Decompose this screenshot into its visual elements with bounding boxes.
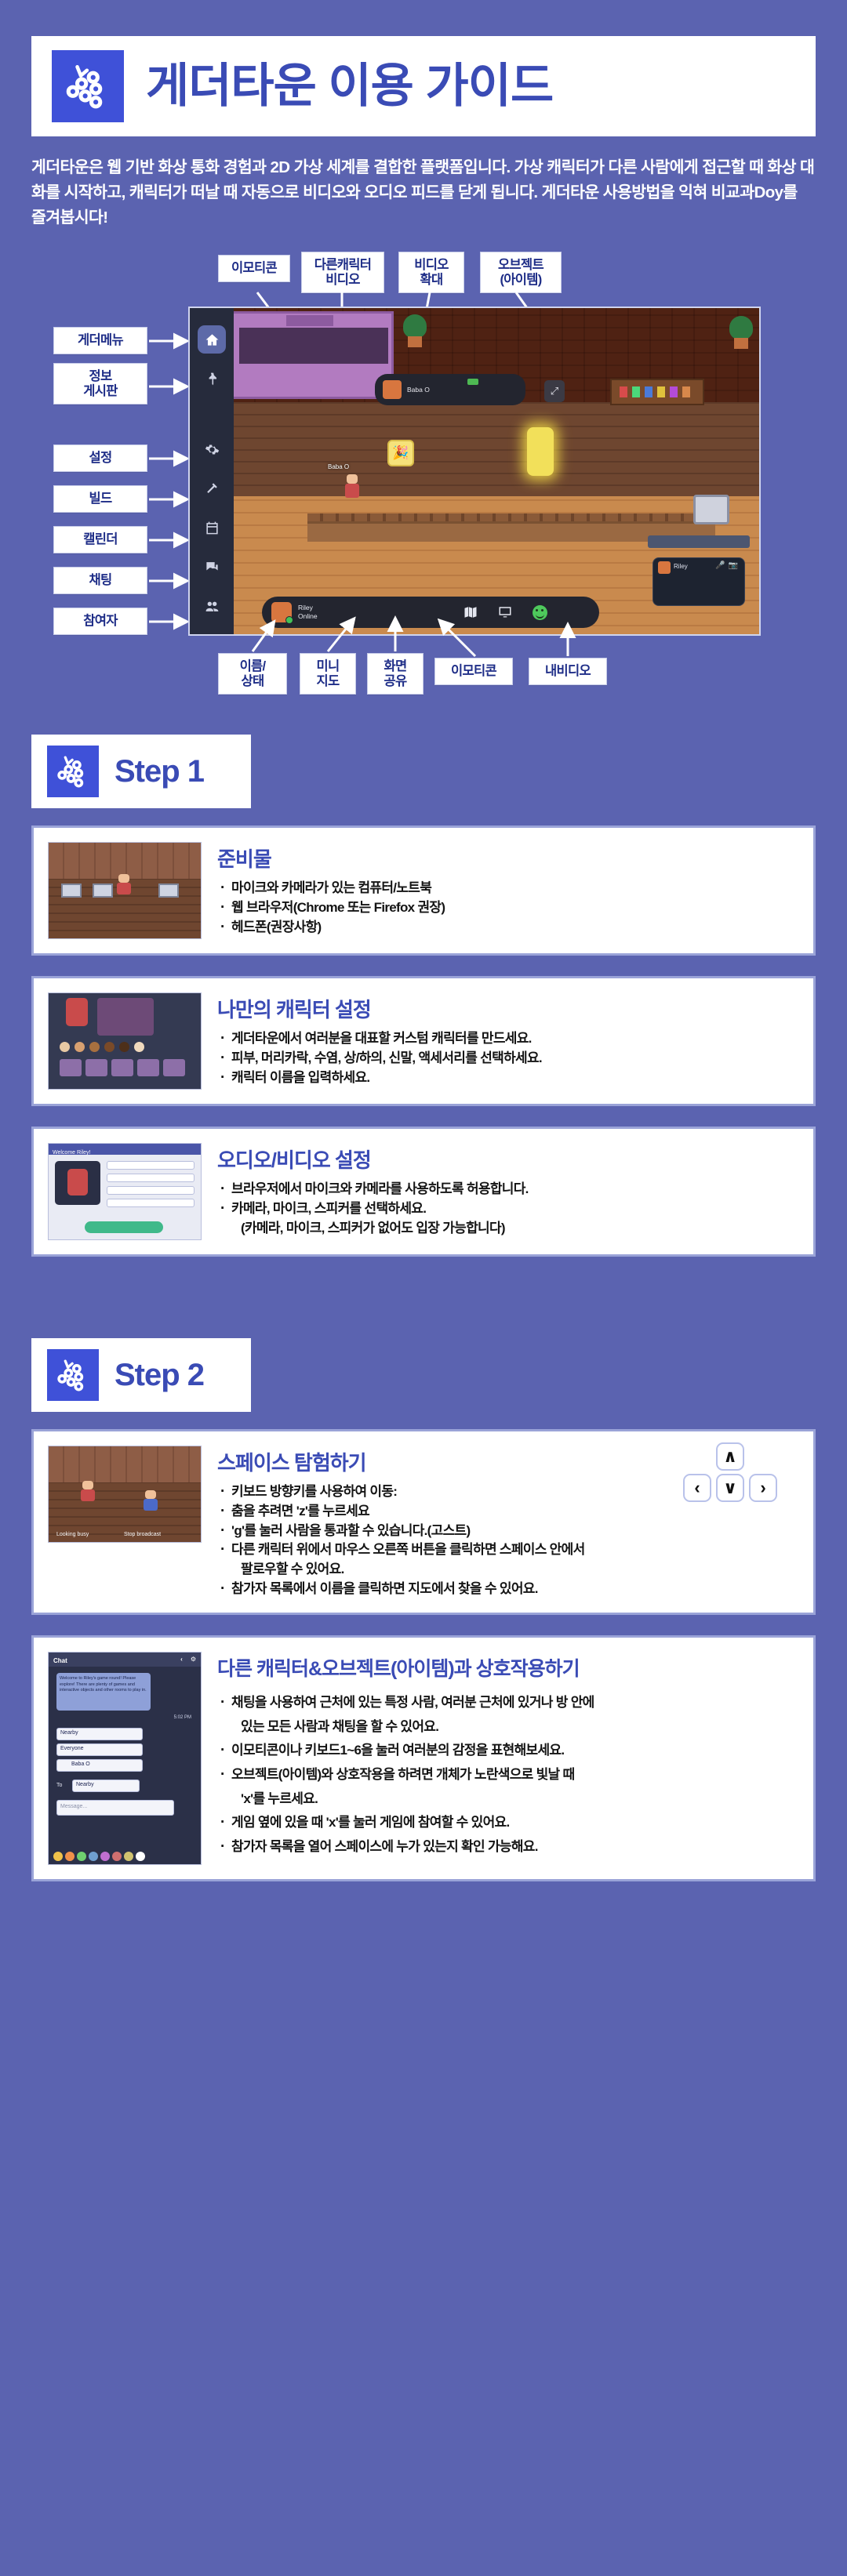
card-character-setup: 나만의 캐릭터 설정 게더타운에서 여러분을 대표할 커스텀 캐릭터를 만드세요… bbox=[31, 976, 816, 1106]
intro-paragraph: 게더타운은 웹 기반 화상 통화 경험과 2D 가상 세계를 결합한 플랫폼입니… bbox=[31, 155, 816, 230]
bottom-toolbar[interactable]: Riley Online bbox=[262, 597, 599, 628]
step-2-header: Step 2 bbox=[31, 1338, 251, 1412]
my-video-panel[interactable]: Riley 🎤 📷 bbox=[653, 557, 745, 606]
video-expand-button[interactable]: ⤢ bbox=[544, 380, 565, 402]
hammer-icon[interactable] bbox=[198, 474, 226, 503]
bullet: 채팅을 사용하여 근처에 있는 특정 사람, 여러분 근처에 있거나 방 안에 bbox=[217, 1691, 799, 1715]
gather-grape-logo-icon bbox=[52, 50, 124, 122]
bullet: 웹 브라우저(Chrome 또는 Firefox 권장) bbox=[217, 898, 799, 918]
camera-muted-icon: 📷 bbox=[729, 561, 738, 570]
step-1-header: Step 1 bbox=[31, 735, 251, 808]
label-video-expand: 비디오 확대 bbox=[398, 252, 464, 293]
card-title: 준비물 bbox=[217, 844, 799, 873]
people-icon[interactable] bbox=[198, 592, 226, 620]
label-minimap: 미니 지도 bbox=[300, 653, 356, 695]
label-build: 빌드 bbox=[53, 485, 147, 512]
bullet: 오브젝트(아이템)와 상호작용을 하려면 개체가 노란색으로 빛날 때 bbox=[217, 1763, 799, 1787]
label-calendar: 캘린더 bbox=[53, 526, 147, 553]
player-name-label: Baba O bbox=[407, 386, 430, 394]
chat-to-select[interactable]: Nearby bbox=[72, 1780, 140, 1792]
glowing-object[interactable] bbox=[527, 427, 554, 476]
label-gather-menu: 게더메뉴 bbox=[53, 327, 147, 354]
muted-indicators: 🎤 📷 bbox=[715, 561, 738, 570]
bullet: 춤을 추려면 'z'를 누르세요 bbox=[217, 1502, 799, 1522]
emoticon-bubble: 🎉 bbox=[387, 440, 414, 466]
bullet: 게임 옆에 있을 때 'x'를 눌러 게임에 참여할 수 있어요. bbox=[217, 1811, 799, 1835]
chat-message-input[interactable]: Message... bbox=[56, 1800, 174, 1816]
avatar[interactable] bbox=[271, 602, 292, 622]
player-nameplate: Baba O bbox=[328, 463, 349, 470]
chat-option-baba[interactable]: Baba O bbox=[56, 1759, 143, 1772]
bullet: 참가자 목록을 열어 스페이스에 누가 있는지 확인 가능해요. bbox=[217, 1835, 799, 1859]
collapse-icon[interactable]: ‹ bbox=[180, 1653, 183, 1667]
my-name-label: Riley bbox=[674, 563, 688, 570]
chair-row bbox=[307, 513, 715, 521]
bullet: 캐릭터 이름을 입력하세요. bbox=[217, 1068, 799, 1088]
card-preparation: 준비물 마이크와 카메라가 있는 컴퓨터/노트북 웹 브라우저(Chrome 또… bbox=[31, 825, 816, 956]
shop-shelf bbox=[239, 328, 388, 364]
bullet-continuation: (카메라, 마이크, 스피커가 없어도 입장 가능합니다) bbox=[217, 1219, 799, 1239]
chat-panel-title: Chat bbox=[53, 1657, 67, 1664]
gear-icon[interactable] bbox=[198, 435, 226, 463]
explore-space-thumb: Looking busy Stop broadcast bbox=[48, 1446, 202, 1543]
screen-share-icon[interactable] bbox=[498, 605, 512, 619]
calendar-icon[interactable] bbox=[198, 513, 226, 542]
other-character-video-pill[interactable]: Baba O bbox=[375, 374, 525, 405]
bullet-continuation: 'x'를 누르세요. bbox=[217, 1787, 799, 1812]
card-audio-video-setup: Welcome Riley! 오디오/비디오 설정 브라우저에서 마이크와 카메… bbox=[31, 1127, 816, 1257]
video-indicator bbox=[467, 379, 478, 385]
kiosk-object[interactable] bbox=[693, 495, 729, 524]
player-avatar[interactable] bbox=[344, 474, 361, 498]
plant-decor bbox=[729, 316, 753, 349]
arrow-up-key-icon: ∧ bbox=[716, 1442, 744, 1471]
office-room-thumb bbox=[48, 842, 202, 939]
label-settings: 설정 bbox=[53, 444, 147, 471]
toolbar-icons bbox=[463, 605, 590, 620]
chat-welcome-message: Welcome to Riley's game round! Please ex… bbox=[56, 1673, 151, 1711]
bullet-continuation: 팔로우할 수 있어요. bbox=[217, 1560, 799, 1580]
step-2-label: Step 2 bbox=[115, 1358, 204, 1393]
label-screen-share: 화면 공유 bbox=[367, 653, 423, 695]
chat-option-nearby[interactable]: Nearby bbox=[56, 1728, 143, 1740]
bullet: 브라우저에서 마이크와 카메라를 사용하도록 허용합니다. bbox=[217, 1180, 799, 1199]
bullet-continuation: 있는 모든 사람과 채팅을 할 수 있어요. bbox=[217, 1715, 799, 1740]
bullet: 게더타운에서 여러분을 대표할 커스텀 캐릭터를 만드세요. bbox=[217, 1029, 799, 1049]
label-my-video: 내비디오 bbox=[529, 658, 607, 684]
avatar bbox=[383, 380, 402, 399]
chat-timestamp: 5:02 PM bbox=[174, 1715, 191, 1720]
chat-panel-thumb: Chat ⚙ ‹ Welcome to Riley's game round! … bbox=[48, 1652, 202, 1865]
card-interaction: Chat ⚙ ‹ Welcome to Riley's game round! … bbox=[31, 1635, 816, 1881]
label-participants: 참여자 bbox=[53, 608, 147, 634]
home-icon[interactable] bbox=[198, 325, 226, 354]
label-object-item: 오브젝트 (아이템) bbox=[480, 252, 562, 293]
bullet: 참가자 목록에서 이름을 클릭하면 지도에서 찾을 수 있어요. bbox=[217, 1580, 799, 1599]
room-floor-upper bbox=[190, 402, 759, 496]
gather-app-screenshot: Baba O ⤢ 🎉 Baba O Riley 🎤 📷 bbox=[188, 307, 761, 636]
card-bullets: 마이크와 카메라가 있는 컴퓨터/노트북 웹 브라우저(Chrome 또는 Fi… bbox=[217, 879, 799, 937]
bullet: 마이크와 카메라가 있는 컴퓨터/노트북 bbox=[217, 879, 799, 898]
mic-muted-icon: 🎤 bbox=[715, 561, 725, 570]
card-explore-space: Looking busy Stop broadcast 스페이스 탐험하기 ∧ … bbox=[31, 1429, 816, 1615]
banner-strip bbox=[648, 535, 750, 548]
shop-sign bbox=[286, 315, 333, 326]
plant-decor bbox=[403, 314, 427, 347]
page-title: 게더타운 이용 가이드 bbox=[146, 63, 553, 110]
card-bullets: 키보드 방향키를 사용하여 이동: 춤을 추려면 'z'를 누르세요 'g'를 … bbox=[217, 1482, 799, 1598]
card-bullets: 브라우저에서 마이크와 카메라를 사용하도록 허용합니다. 카메라, 마이크, … bbox=[217, 1180, 799, 1238]
annotated-app-diagram: 이모티콘 다른캐릭터 비디오 비디오 확대 오브젝트 (아이템) 게더메뉴 정보… bbox=[31, 249, 816, 688]
label-chat: 채팅 bbox=[53, 567, 147, 593]
bullet: 다른 캐릭터 위에서 마우스 오른쪽 버튼을 클릭하면 스페이스 안에서 bbox=[217, 1540, 799, 1560]
gather-grape-logo-icon bbox=[47, 746, 99, 797]
card-title: 다른 캐릭터&오브젝트(아이템)과 상호작용하기 bbox=[217, 1653, 799, 1682]
character-select-thumb bbox=[48, 992, 202, 1090]
thumb-header-text: Welcome Riley! bbox=[53, 1150, 91, 1156]
bullet: 헤드폰(권장사항) bbox=[217, 918, 799, 938]
bullet: 카메라, 마이크, 스피커를 선택하세요. bbox=[217, 1199, 799, 1219]
avatar bbox=[658, 561, 671, 574]
gear-icon[interactable]: ⚙ bbox=[191, 1653, 196, 1667]
emoji-toolbar[interactable] bbox=[53, 1852, 145, 1861]
pin-icon[interactable] bbox=[198, 365, 226, 393]
bullet: 'g'를 눌러 사람을 통과할 수 있습니다.(고스트) bbox=[217, 1522, 799, 1541]
gather-grape-logo-icon bbox=[47, 1349, 99, 1401]
card-title: 오디오/비디오 설정 bbox=[217, 1145, 799, 1174]
step-1-label: Step 1 bbox=[115, 754, 204, 789]
label-info-board: 정보 게시판 bbox=[53, 363, 147, 405]
name-status-block[interactable]: Riley Online bbox=[298, 604, 318, 621]
card-bullets: 게더타운에서 여러분을 대표할 커스텀 캐릭터를 만드세요. 피부, 머리카락,… bbox=[217, 1029, 799, 1087]
bullet: 피부, 머리카락, 수염, 상/하의, 신말, 액세서리를 선택하세요. bbox=[217, 1049, 799, 1068]
purple-shop-area bbox=[229, 311, 394, 399]
chat-to-label: To bbox=[56, 1783, 62, 1788]
page-title-banner: 게더타운 이용 가이드 bbox=[31, 36, 816, 136]
gather-sidebar[interactable] bbox=[190, 308, 234, 634]
user-name: Riley bbox=[298, 604, 318, 612]
label-emoticon-top: 이모티콘 bbox=[218, 255, 290, 281]
card-title: 나만의 캐릭터 설정 bbox=[217, 994, 799, 1023]
chat-option-everyone[interactable]: Everyone bbox=[56, 1743, 143, 1756]
bullet: 키보드 방향키를 사용하여 이동: bbox=[217, 1482, 799, 1502]
card-bullets: 채팅을 사용하여 근처에 있는 특정 사람, 여러분 근처에 있거나 방 안에 … bbox=[217, 1691, 799, 1859]
emoji-icon[interactable] bbox=[533, 605, 547, 620]
map-icon[interactable] bbox=[463, 605, 478, 619]
user-status: Online bbox=[298, 612, 318, 621]
label-other-character-video: 다른캐릭터 비디오 bbox=[301, 252, 384, 293]
interactive-object[interactable] bbox=[610, 379, 704, 405]
label-name-status: 이름/ 상태 bbox=[218, 653, 287, 695]
bullet: 이모티콘이나 키보드1~6을 눌러 여러분의 감정을 표현해보세요. bbox=[217, 1739, 799, 1763]
audio-video-setup-thumb: Welcome Riley! bbox=[48, 1143, 202, 1240]
label-emoticon-bottom: 이모티콘 bbox=[434, 658, 513, 684]
chat-icon[interactable] bbox=[198, 553, 226, 581]
